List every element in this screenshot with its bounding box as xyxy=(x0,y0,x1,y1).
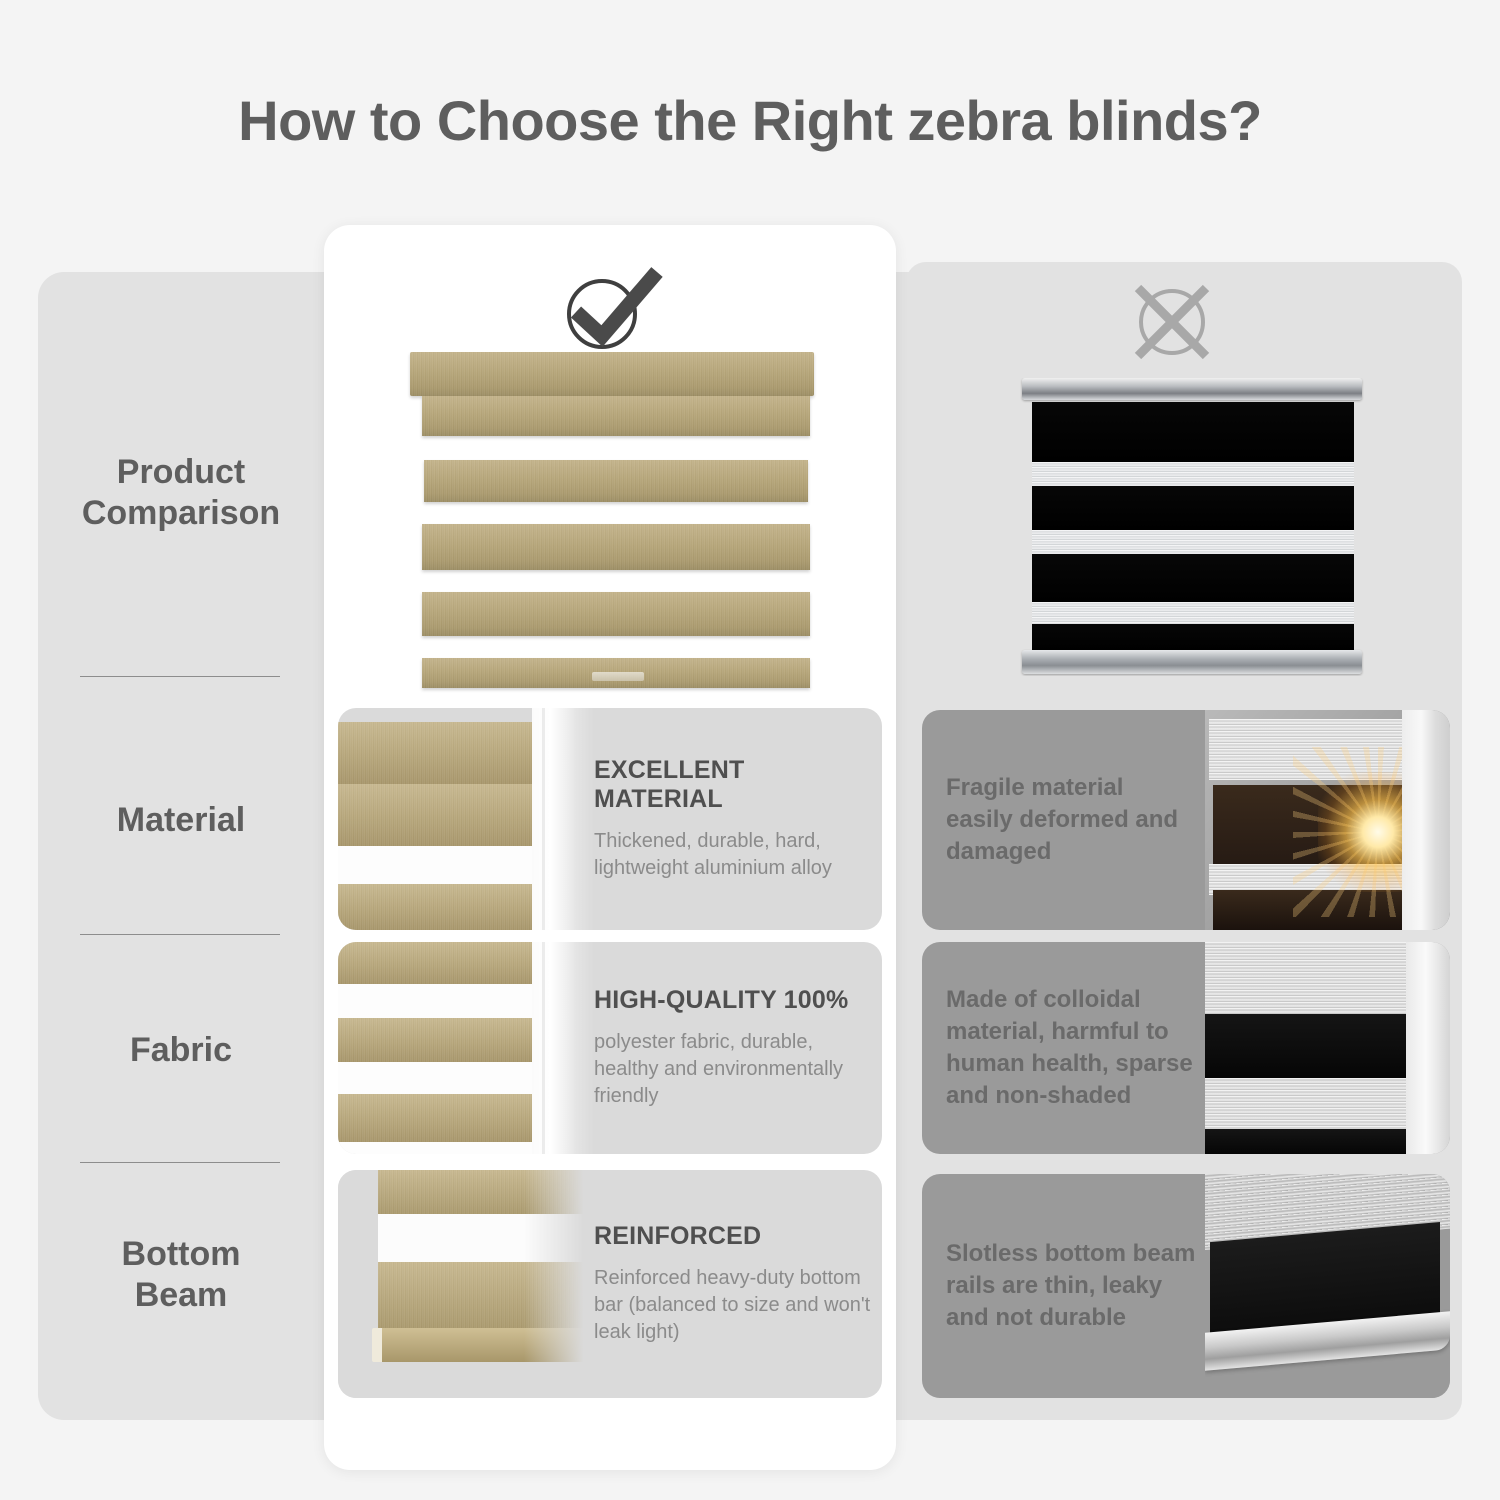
good-feature-card-bottom-beam: REINFORCED Reinforced heavy-duty bottom … xyxy=(338,1170,882,1398)
bad-bottom-beam-text: Slotless bottom beam rails are thin, lea… xyxy=(946,1174,1196,1398)
blind-slat xyxy=(422,524,810,570)
bad-feature-card-fabric: Made of colloidal material, harmful to h… xyxy=(922,942,1450,1154)
bad-material-image xyxy=(1205,710,1450,930)
blind-opaque-band xyxy=(1205,1014,1416,1078)
good-bottom-beam-image xyxy=(338,1170,594,1398)
blind-pull-tab xyxy=(592,672,644,681)
row-label-product-comparison: Product Comparison xyxy=(38,452,324,535)
row-label-sidebar: Product Comparison Material Fabric Botto… xyxy=(38,272,324,1420)
blind-top-band xyxy=(422,396,810,436)
blind-opaque-band xyxy=(1205,1129,1416,1154)
row-divider-3 xyxy=(80,1162,280,1163)
check-circle-icon xyxy=(556,266,666,352)
blind-sheer-band xyxy=(338,1062,538,1094)
image-fade xyxy=(524,1170,594,1398)
good-material-text: EXCELLENT MATERIAL Thickened, durable, h… xyxy=(594,708,874,930)
bad-feature-card-material: Fragile material easily deformed and dam… xyxy=(922,710,1450,930)
blind-sheer-band xyxy=(338,984,538,1018)
row-divider-2 xyxy=(80,934,280,935)
bad-bottom-beam-image xyxy=(1205,1174,1450,1398)
row-label-line1: Material xyxy=(38,800,324,841)
blind-slat xyxy=(338,1018,538,1062)
row-label-line2: Beam xyxy=(38,1275,324,1316)
window-frame xyxy=(532,942,594,1154)
feature-heading: REINFORCED xyxy=(594,1222,874,1251)
good-feature-card-fabric: HIGH-QUALITY 100% polyester fabric, dura… xyxy=(338,942,882,1154)
row-label-bottom-beam: Bottom Beam xyxy=(38,1234,324,1317)
blind-sheer-band xyxy=(1205,1078,1416,1129)
blind-opaque-band xyxy=(1032,554,1354,602)
blind-headrail xyxy=(1022,378,1362,400)
feature-heading: HIGH-QUALITY 100% xyxy=(594,986,874,1015)
bad-fabric-image xyxy=(1205,942,1450,1154)
feature-body: Made of colloidal material, harmful to h… xyxy=(946,984,1196,1112)
good-bottom-beam-text: REINFORCED Reinforced heavy-duty bottom … xyxy=(594,1170,874,1398)
blind-opaque-band xyxy=(1032,486,1354,530)
blind-slat xyxy=(338,722,538,784)
row-label-line1: Bottom xyxy=(38,1234,324,1275)
blind-headrail xyxy=(410,352,814,396)
window-frame xyxy=(1402,710,1450,930)
blind-bottom-rail xyxy=(1022,650,1362,674)
window-frame xyxy=(532,708,594,930)
blind-sheer-band xyxy=(1205,942,1416,1014)
row-label-line1: Fabric xyxy=(38,1030,324,1071)
feature-body: Thickened, durable, hard, lightweight al… xyxy=(594,828,874,882)
blind-opaque-band xyxy=(1032,624,1354,650)
row-label-fabric: Fabric xyxy=(38,1030,324,1071)
feature-body: Reinforced heavy-duty bottom bar (balanc… xyxy=(594,1265,874,1345)
cross-circle-icon xyxy=(1124,280,1220,360)
bad-fabric-text: Made of colloidal material, harmful to h… xyxy=(946,942,1196,1154)
bad-feature-card-bottom-beam: Slotless bottom beam rails are thin, lea… xyxy=(922,1174,1450,1398)
row-label-line2: Comparison xyxy=(38,493,324,534)
blind-slat xyxy=(338,784,538,846)
bad-material-text: Fragile material easily deformed and dam… xyxy=(946,710,1196,930)
page-title: How to Choose the Right zebra blinds? xyxy=(0,88,1500,153)
good-fabric-image xyxy=(338,942,594,1154)
feature-body: Fragile material easily deformed and dam… xyxy=(946,772,1196,868)
good-hero-blind-image xyxy=(394,352,830,700)
blind-sheer-band xyxy=(338,846,538,884)
feature-heading: EXCELLENT MATERIAL xyxy=(594,756,874,814)
blind-sheer-band xyxy=(338,1142,538,1154)
row-divider-1 xyxy=(80,676,280,677)
blind-sheer-band xyxy=(1032,530,1354,554)
row-label-material: Material xyxy=(38,800,324,841)
good-feature-card-material: EXCELLENT MATERIAL Thickened, durable, h… xyxy=(338,708,882,930)
blind-sheer-band xyxy=(1032,462,1354,486)
blind-sheer-band xyxy=(1032,602,1354,624)
good-material-image xyxy=(338,708,594,930)
blind-opaque-band xyxy=(1032,402,1354,462)
blind-slat xyxy=(424,460,808,502)
feature-body: polyester fabric, durable, healthy and e… xyxy=(594,1029,874,1109)
window-frame xyxy=(1406,942,1450,1154)
blind-slat xyxy=(338,942,538,984)
feature-body: Slotless bottom beam rails are thin, lea… xyxy=(946,1238,1196,1334)
blind-slat xyxy=(338,884,538,930)
blind-slat xyxy=(338,1094,538,1142)
row-label-line1: Product xyxy=(38,452,324,493)
good-fabric-text: HIGH-QUALITY 100% polyester fabric, dura… xyxy=(594,942,874,1154)
bad-hero-blind-image xyxy=(1018,378,1368,676)
blind-slat xyxy=(422,592,810,636)
